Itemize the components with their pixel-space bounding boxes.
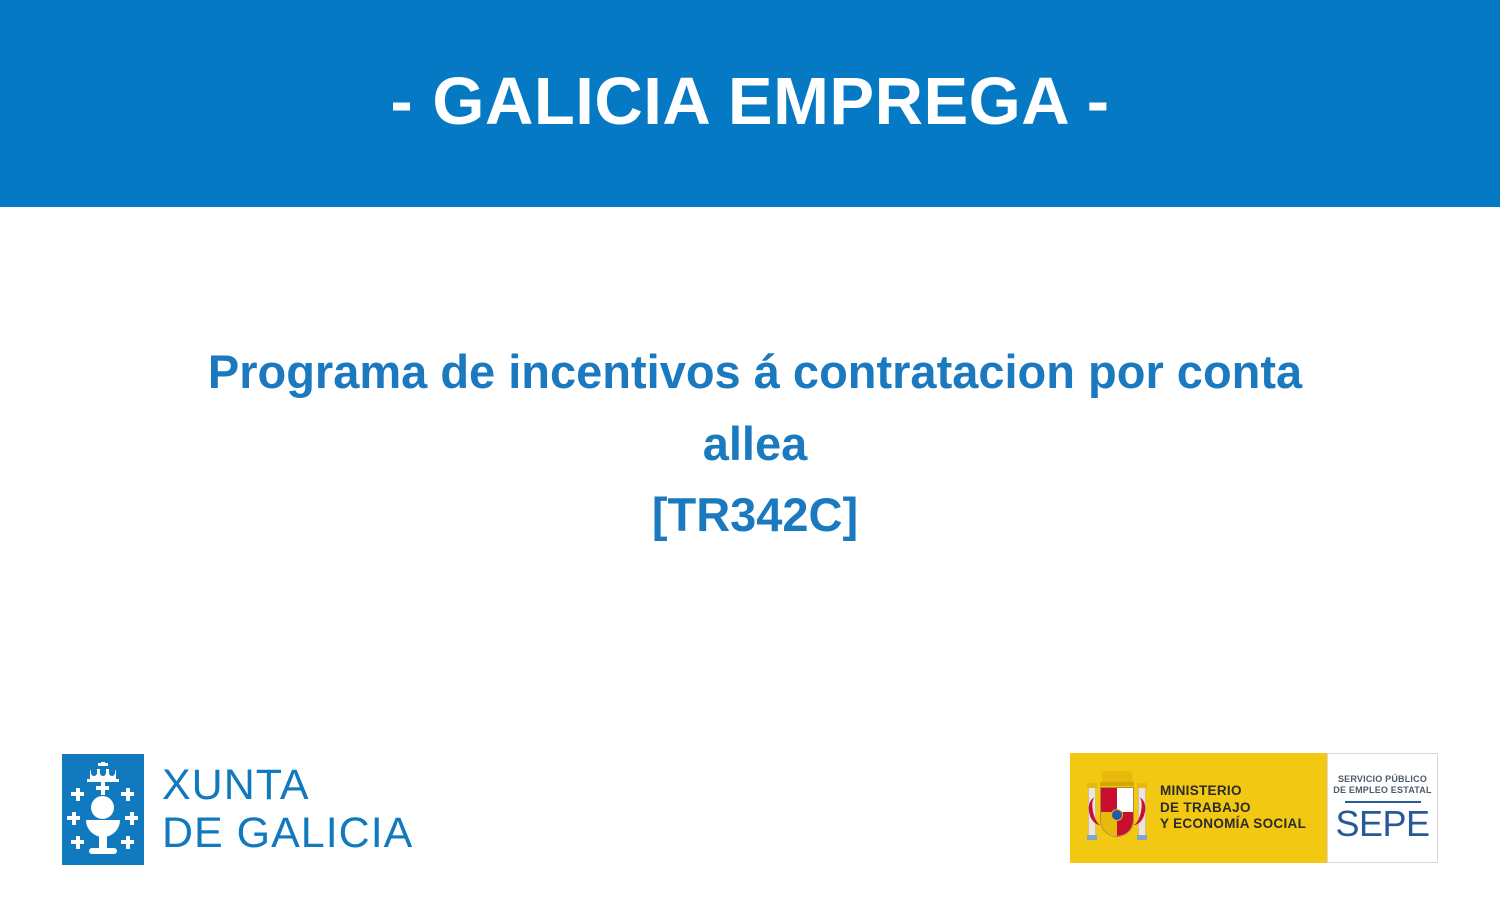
crown-tip-bar: [98, 763, 108, 766]
galicia-coat-of-arms-icon: [62, 754, 144, 865]
cross-icon: [71, 836, 84, 849]
pillar-cap-right: [1137, 783, 1147, 788]
sepe-subtitle-line-2: DE EMPLEO ESTATAL: [1333, 785, 1431, 796]
program-code: [TR342C]: [110, 480, 1400, 550]
header-band: - GALICIA EMPREGA -: [0, 0, 1500, 207]
ministerio-line-2: DE TRABAJO: [1160, 800, 1306, 817]
pillar-cap-left: [1087, 783, 1097, 788]
cross-icon: [121, 788, 134, 801]
chalice-stem: [99, 836, 107, 849]
main-text-block: Programa de incentivos á contratacion po…: [110, 336, 1400, 550]
pillar-base-right: [1137, 835, 1147, 840]
chalice-cup-icon: [86, 820, 120, 837]
xunta-wordmark-line-2: DE GALICIA: [162, 809, 413, 857]
cross-icon: [67, 812, 80, 825]
xunta-de-galicia-logo: XUNTA DE GALICIA: [62, 753, 462, 865]
program-title-line-1: Programa de incentivos á contratacion po…: [110, 336, 1400, 408]
ministerio-sepe-logo: MINISTERIO DE TRABAJO Y ECONOMÍA SOCIAL …: [1070, 753, 1438, 863]
host-icon: [91, 796, 114, 819]
cross-icon: [125, 812, 138, 825]
ministerio-line-3: Y ECONOMÍA SOCIAL: [1160, 816, 1306, 833]
pillar-base-left: [1087, 835, 1097, 840]
cross-icon: [121, 836, 134, 849]
crown-notch: [109, 769, 115, 776]
sepe-subtitle-line-1: SERVICIO PÚBLICO: [1338, 774, 1427, 785]
crown-notch: [100, 769, 106, 776]
crown-notch: [91, 769, 97, 776]
cross-icon: [71, 788, 84, 801]
page-title: - GALICIA EMPREGA -: [0, 62, 1500, 142]
chalice-foot: [89, 848, 117, 854]
spanish-coat-of-arms-icon: [1088, 771, 1146, 845]
cross-icon: [96, 782, 109, 795]
xunta-wordmark: XUNTA DE GALICIA: [162, 761, 413, 857]
sepe-wordmark: SEPE: [1335, 805, 1429, 843]
inescutcheon-bourbon: [1111, 809, 1123, 821]
crown-icon: [87, 762, 119, 784]
ministerio-panel: MINISTERIO DE TRABAJO Y ECONOMÍA SOCIAL: [1070, 753, 1327, 863]
royal-crown-rim: [1100, 782, 1134, 786]
xunta-wordmark-line-1: XUNTA: [162, 761, 413, 809]
sepe-panel: SERVICIO PÚBLICO DE EMPLEO ESTATAL SEPE: [1327, 753, 1438, 863]
program-title-line-2: allea: [110, 408, 1400, 480]
ministerio-line-1: MINISTERIO: [1160, 783, 1306, 800]
ministerio-wordmark: MINISTERIO DE TRABAJO Y ECONOMÍA SOCIAL: [1160, 783, 1306, 833]
